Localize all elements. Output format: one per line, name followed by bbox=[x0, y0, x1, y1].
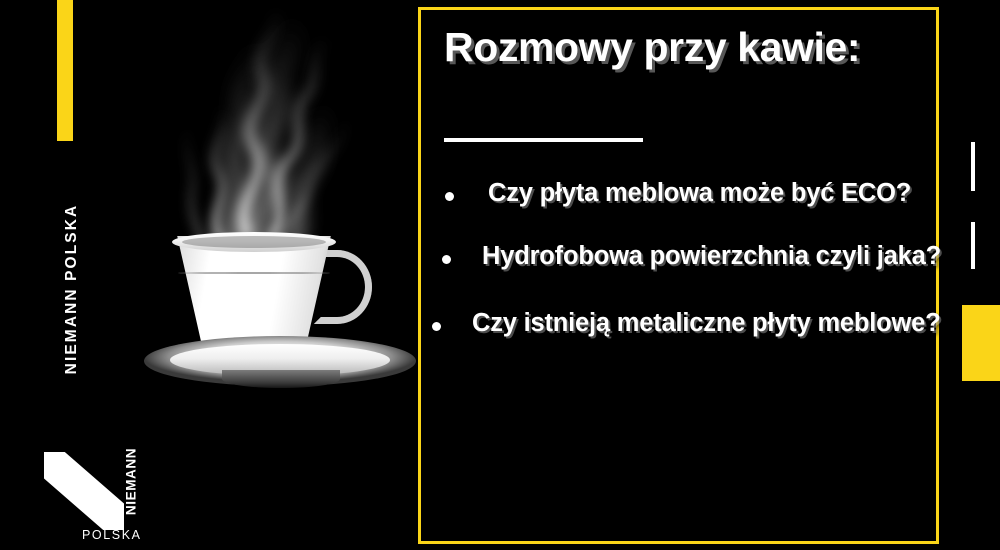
top-left-accent-bar bbox=[57, 0, 73, 141]
logo-n-mark-icon bbox=[44, 452, 124, 530]
bullet-dot-icon bbox=[445, 192, 454, 201]
bullet-dot-icon bbox=[432, 322, 441, 331]
list-item-label: Hydrofobowa powierzchnia czyli jaka? bbox=[482, 241, 942, 272]
list-item: Czy płyta meblowa może być ECO? bbox=[421, 178, 942, 209]
coffee-cup-photo bbox=[96, 0, 406, 420]
logo-wordmark: NIEMANN bbox=[124, 444, 139, 520]
content-panel: Rozmowy przy kawie: Czy płyta meblowa mo… bbox=[418, 7, 939, 544]
cup-decor-line bbox=[178, 272, 330, 274]
list-item: Hydrofobowa powierzchnia czyli jaka? bbox=[421, 241, 942, 272]
page-title: Rozmowy przy kawie: bbox=[444, 24, 884, 72]
right-accent-line-bottom bbox=[971, 222, 975, 269]
teacup-and-saucer bbox=[118, 232, 394, 392]
right-accent-line-top bbox=[971, 142, 975, 191]
list-item-label: Czy istnieją metaliczne płyty meblowe? bbox=[472, 308, 942, 339]
bullet-list: Czy płyta meblowa może być ECO? Hydrofob… bbox=[421, 178, 942, 339]
saucer-foot bbox=[222, 370, 340, 388]
logo-subtitle: POLSKA bbox=[82, 528, 142, 542]
slide-root: NIEMANN POLSKA NIEMANN POLSKA bbox=[0, 0, 1000, 550]
cup-interior bbox=[182, 236, 326, 248]
list-item-label: Czy płyta meblowa może być ECO? bbox=[488, 178, 942, 209]
title-divider bbox=[444, 138, 643, 142]
brand-vertical-label: NIEMANN POLSKA bbox=[63, 179, 81, 399]
niemann-polska-logo: NIEMANN POLSKA bbox=[44, 452, 148, 544]
right-accent-block bbox=[962, 305, 1000, 381]
bullet-dot-icon bbox=[442, 255, 451, 264]
list-item: Czy istnieją metaliczne płyty meblowe? bbox=[421, 308, 942, 339]
